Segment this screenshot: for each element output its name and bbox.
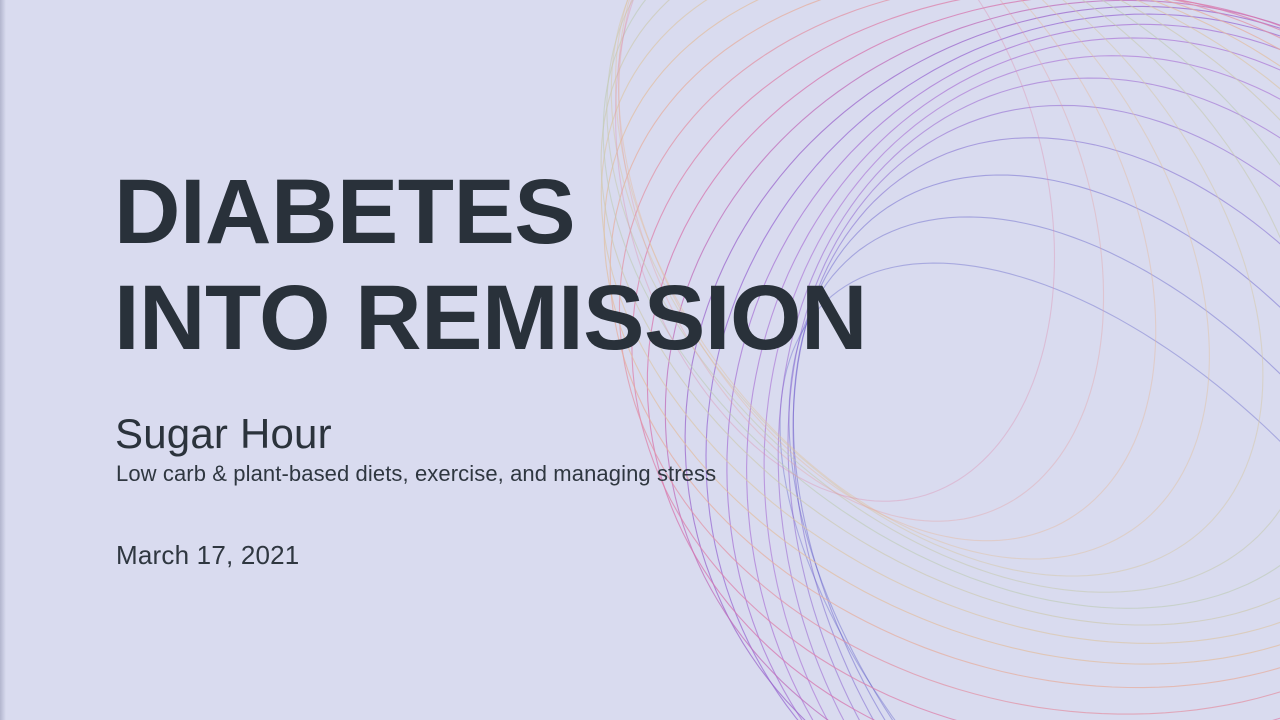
page-title-line-2: INTO REMISSION (114, 272, 867, 364)
slide-text-block: DIABETES INTO REMISSION Sugar Hour Low c… (114, 0, 934, 720)
page-title-line-1: DIABETES (114, 166, 575, 258)
slide-subtitle: Sugar Hour (115, 412, 332, 456)
slide-date: March 17, 2021 (116, 540, 299, 571)
presentation-slide: DIABETES INTO REMISSION Sugar Hour Low c… (0, 0, 1280, 720)
slide-tagline: Low carb & plant-based diets, exercise, … (116, 461, 716, 487)
